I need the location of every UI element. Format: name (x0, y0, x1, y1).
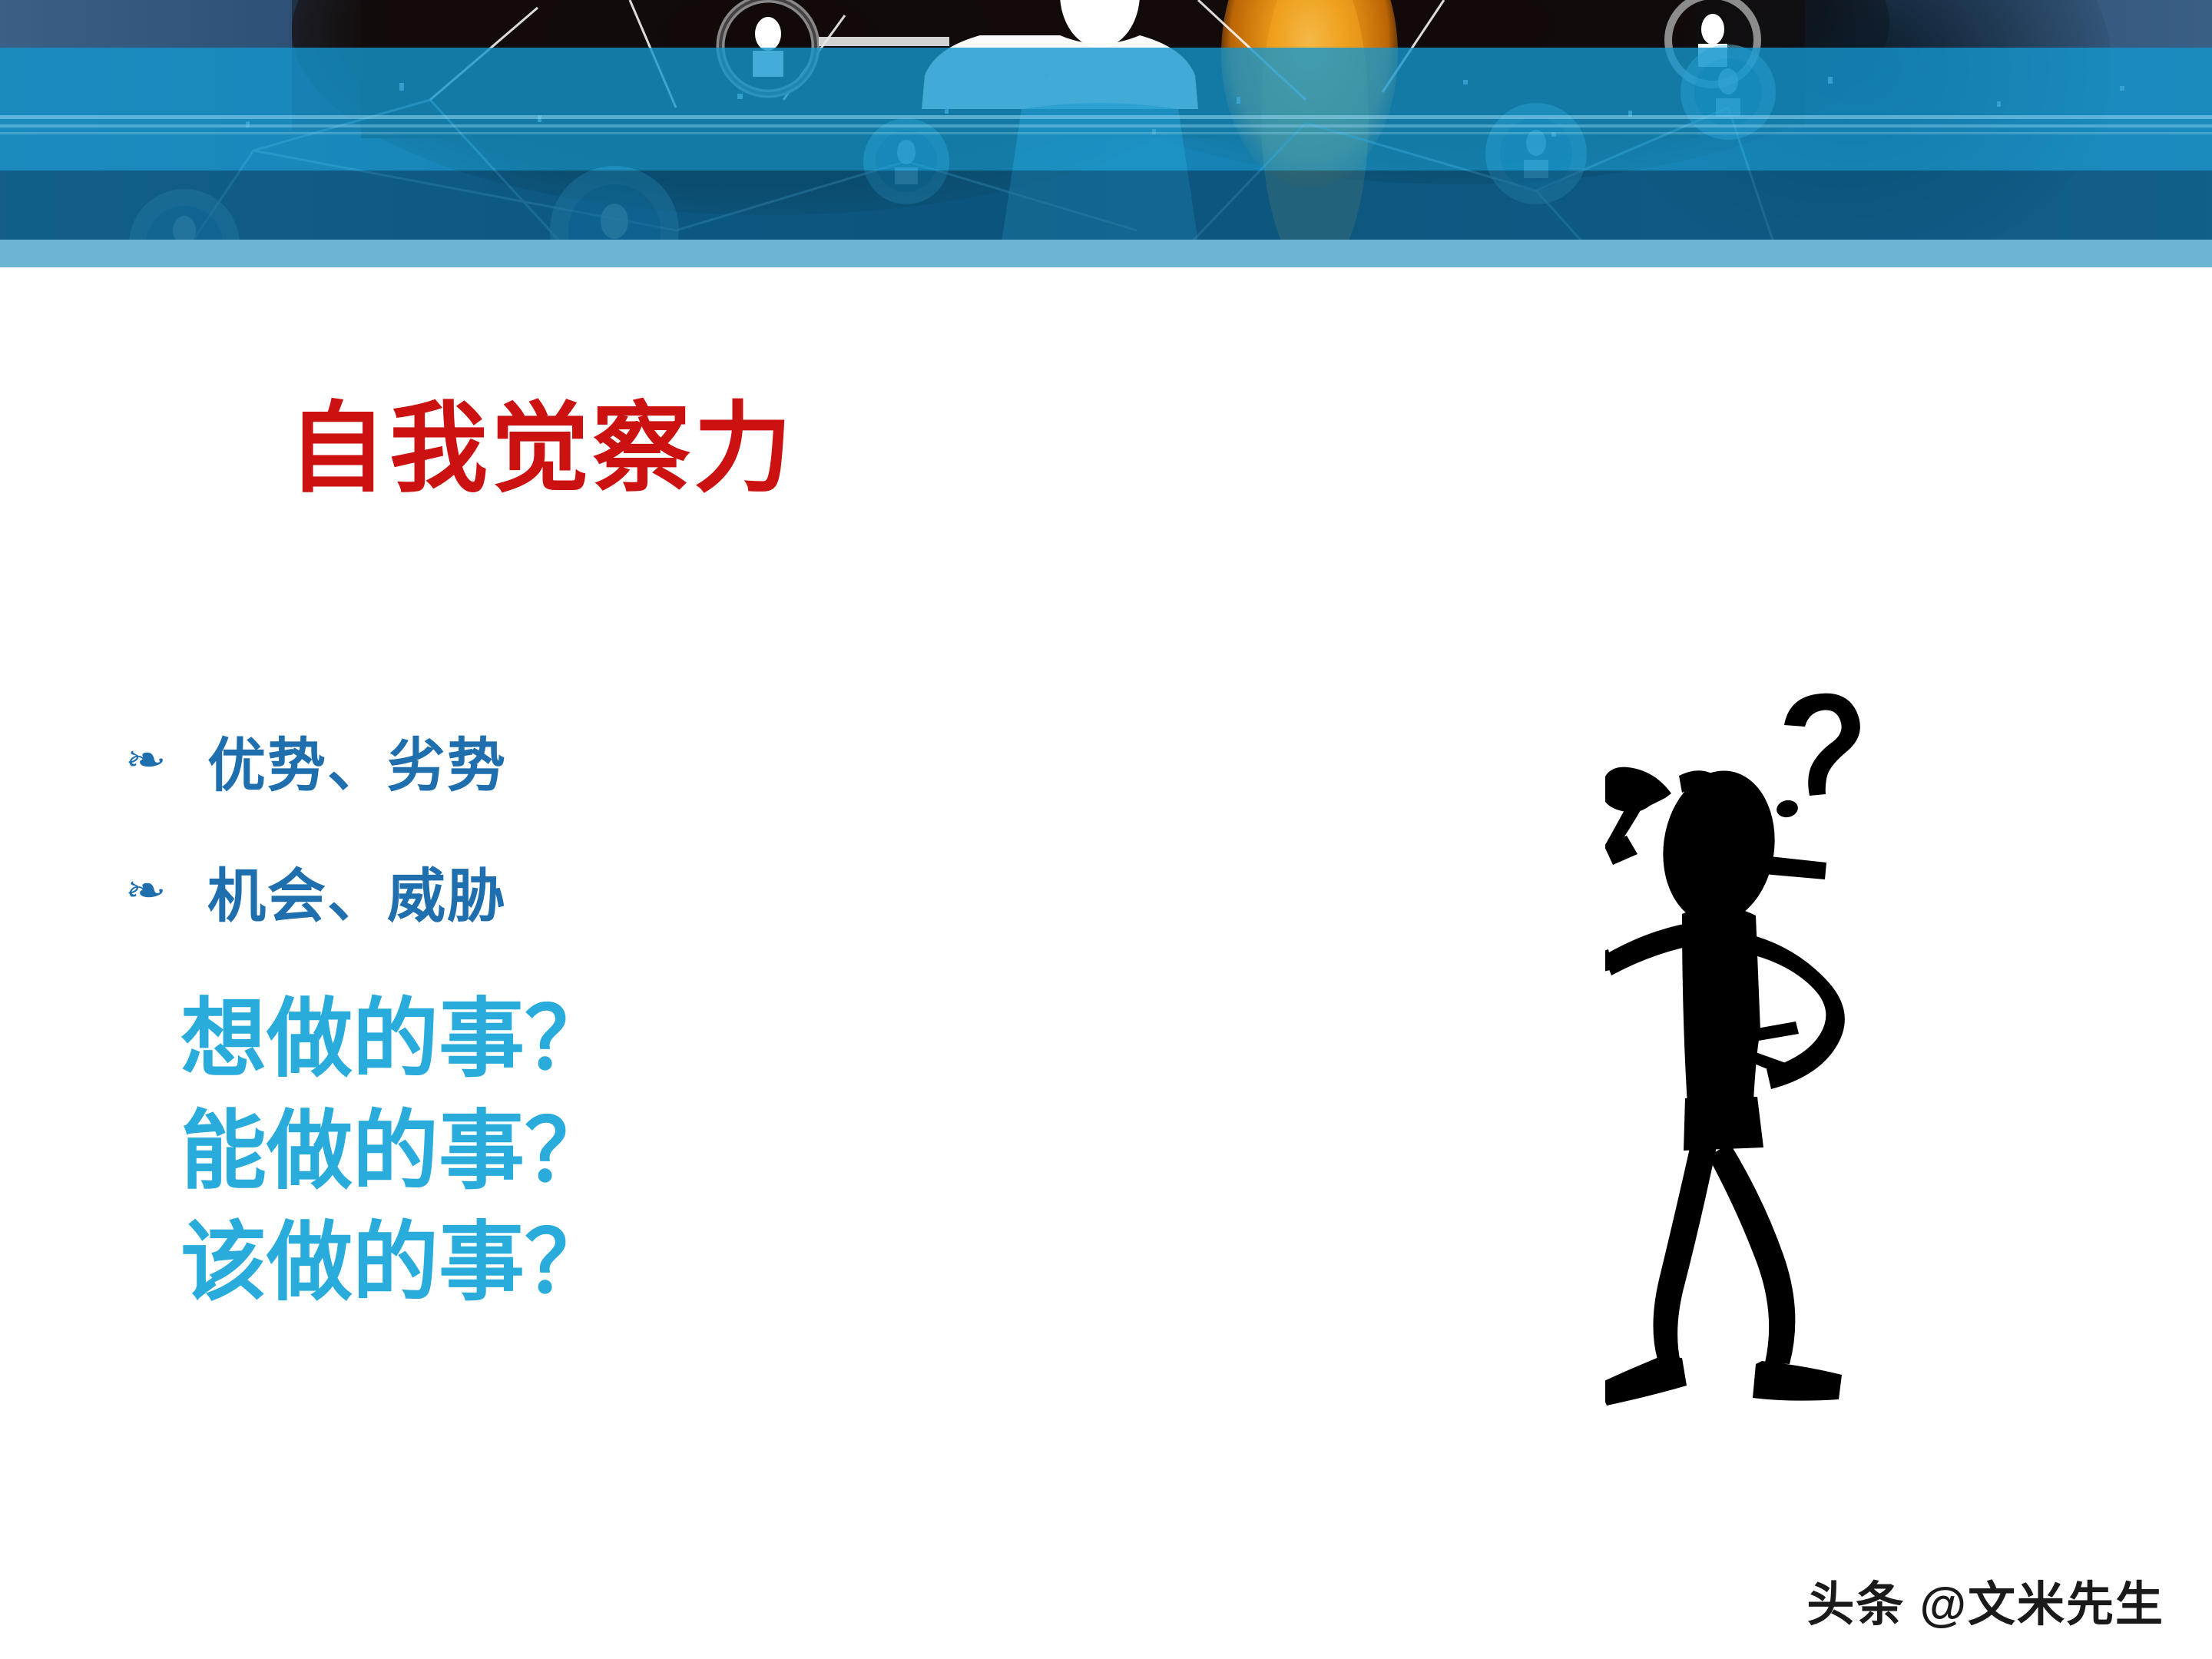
question-line: 想做的事？ (180, 983, 611, 1095)
question-line: 能做的事？ (180, 1095, 611, 1207)
banner-photo (0, 0, 2212, 267)
bullet-item-label: 优势、劣势 (207, 718, 507, 803)
page-title: 自我觉察力 (288, 396, 795, 504)
stick-figure-icon (1605, 668, 1959, 1444)
question-line: 该做的事？ (180, 1207, 611, 1319)
bullet-item-label: 机会、威胁 (207, 849, 507, 933)
list-item: ❧ 机会、威胁 (115, 826, 1037, 956)
swirl-bullet-icon: ❧ (115, 740, 230, 780)
swirl-bullet-icon: ❧ (115, 871, 230, 911)
header-banner (0, 0, 2212, 267)
list-item: ❧ 优势、劣势 (115, 695, 1037, 826)
bullet-list: ❧ 优势、劣势 ❧ 机会、威胁 (115, 695, 1037, 956)
question-block: 想做的事？ 能做的事？ 该做的事？ (180, 983, 611, 1319)
slide-canvas: 自我觉察力 ❧ 优势、劣势 ❧ 机会、威胁 想做的事？ 能做的事？ 该做的事？ (0, 0, 2212, 1659)
confused-stick-figure-illustration (1605, 668, 1959, 1444)
watermark-text: 头条 @文米先生 (1806, 1565, 2164, 1634)
